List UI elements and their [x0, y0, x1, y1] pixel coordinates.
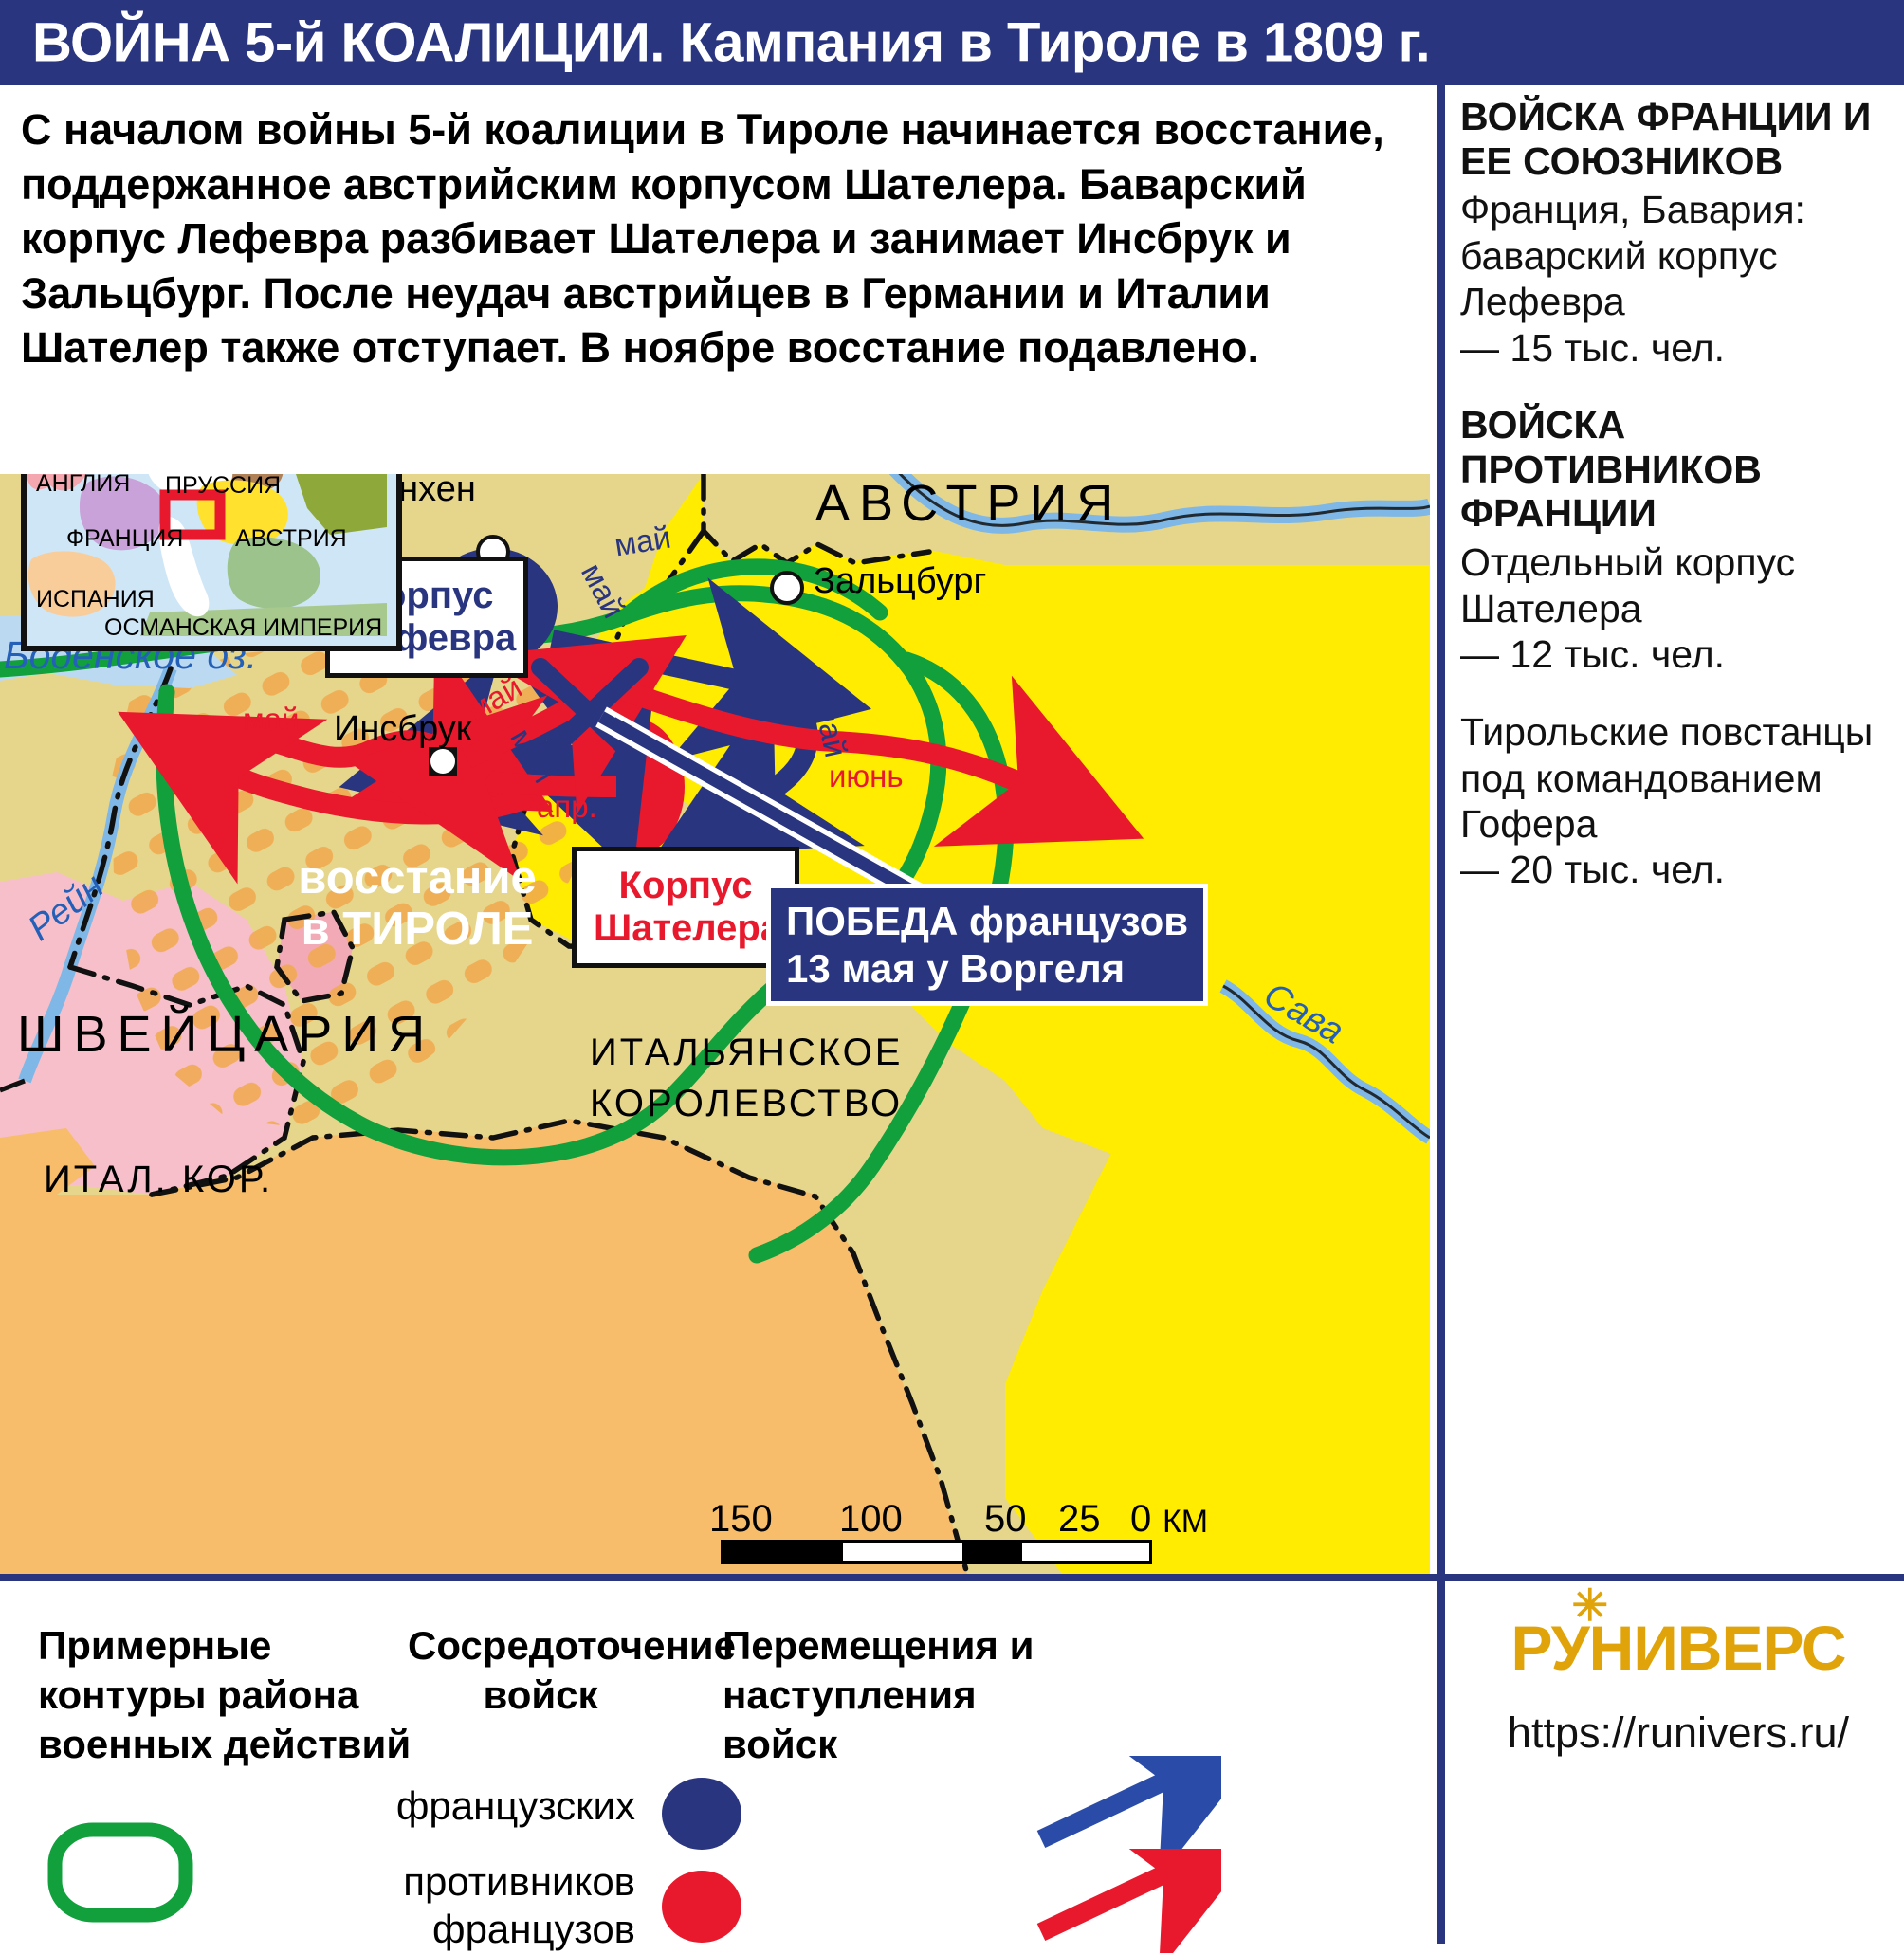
callout-chasteler-line1: Корпус [619, 865, 753, 906]
divider-horizontal-legend [0, 1574, 1437, 1581]
legend-col2-title: Сосредоточениевойск [408, 1621, 673, 1720]
legend-enemy-arrow-swatch [1032, 1849, 1221, 1953]
victory-banner-line1: ПОБЕДА французов [786, 899, 1188, 943]
city-dot-salzburg [772, 573, 802, 603]
scale-unit-label: КМ [1163, 1504, 1208, 1541]
runivers-url[interactable]: https://runivers.ru/ [1460, 1708, 1896, 1758]
page-title: ВОЙНА 5-й КОАЛИЦИИ. Кампания в Тироле в … [32, 11, 1430, 75]
legend-enemy-label: противниковфранцузов [360, 1858, 635, 1954]
campaign-map: Линц Мюнхен Зальцбург Инсбрук БАВАРИЯ АВ… [0, 474, 1430, 1574]
brand-block: ✳РУНИВЕРС https://runivers.ru/ [1460, 1612, 1896, 1758]
scale-tick-50: 50 [984, 1498, 1027, 1541]
runivers-logo[interactable]: ✳РУНИВЕРС [1510, 1612, 1845, 1684]
legend-col1-title: Примерныеконтуры районавоенных действий [38, 1621, 417, 1769]
callout-chasteler-line2: Шателера [594, 907, 781, 949]
divider-vertical-main [1437, 85, 1445, 1944]
tyrolean-rebels-block: Тирольские повстанцы под командованием Г… [1460, 709, 1889, 893]
europe-inset-map: ШВЕЦИЯ РОССИЯ АНГЛИЯ ПРУССИЯ ФРАНЦИЯ АВС… [21, 474, 402, 651]
legend-enemy-blob-swatch [654, 1864, 749, 1949]
forces-sidebar: ВОЙСКА ФРАНЦИИ И ЕЕ СОЮЗНИКОВ Франция, Б… [1460, 95, 1889, 925]
star-icon: ✳ [1571, 1583, 1607, 1627]
tyrolean-rebels-body: Тирольские повстанцы под командованием Г… [1460, 709, 1889, 893]
inset-label-austria: АВСТРИЯ [235, 525, 347, 553]
victory-banner: ПОБЕДА французов 13 мая у Воргеля [766, 884, 1208, 1006]
legend-french-blob-swatch [654, 1771, 749, 1856]
scale-tick-150: 150 [709, 1498, 773, 1541]
legend-french-arrow-swatch [1032, 1756, 1221, 1860]
scale-tick-labels: 150 100 50 25 0 [721, 1498, 1152, 1540]
intro-paragraph: С началом войны 5-й коалиции в Тироле на… [21, 102, 1396, 375]
victory-banner-line2: 13 мая у Воргеля [786, 946, 1125, 991]
legend-area-outline-swatch [46, 1820, 197, 1925]
french-forces-body: Франция, Бавария: баварский корпус Лефев… [1460, 187, 1889, 371]
callout-chasteler-corps: КорпусШателера [577, 851, 795, 963]
inset-label-spain: ИСПАНИЯ [36, 586, 155, 613]
scale-tick-25: 25 [1058, 1498, 1101, 1541]
french-forces-heading: ВОЙСКА ФРАНЦИИ И ЕЕ СОЮЗНИКОВ [1460, 95, 1889, 183]
legend-col3-title: Перемещения инаступления войск [723, 1621, 1102, 1769]
french-forces-block: ВОЙСКА ФРАНЦИИ И ЕЕ СОЮЗНИКОВ Франция, Б… [1460, 95, 1889, 371]
inset-label-prussia: ПРУССИЯ [165, 474, 281, 500]
inset-label-england: АНГЛИЯ [36, 474, 130, 498]
scale-bar-graphic [721, 1540, 1152, 1564]
enemy-forces-heading: ВОЙСКА ПРОТИВНИКОВ ФРАНЦИИ [1460, 403, 1889, 536]
enemy-forces-body-chasteler: Отдельный корпус Шателера— 12 тыс. чел. [1460, 539, 1889, 677]
scale-tick-0: 0 [1130, 1498, 1151, 1541]
enemy-forces-block: ВОЙСКА ПРОТИВНИКОВ ФРАНЦИИ Отдельный кор… [1460, 403, 1889, 677]
inset-label-ottoman: ОСМАНСКАЯ ИМПЕРИЯ [104, 614, 382, 642]
scale-tick-100: 100 [839, 1498, 903, 1541]
rebel-arrow-apr-to-innsbruck [472, 779, 616, 787]
legend-french-label: французских [360, 1782, 635, 1830]
runivers-logo-part1: Р [1510, 1613, 1550, 1683]
page-title-bar: ВОЙНА 5-й КОАЛИЦИИ. Кампания в Тироле в … [0, 0, 1904, 85]
map-scale-bar: 150 100 50 25 0 КМ [721, 1498, 1152, 1564]
divider-horizontal-brand [1437, 1574, 1904, 1581]
inset-label-france: ФРАНЦИЯ [66, 525, 183, 553]
map-legend: Примерныеконтуры районавоенных действий … [0, 1585, 1430, 1944]
